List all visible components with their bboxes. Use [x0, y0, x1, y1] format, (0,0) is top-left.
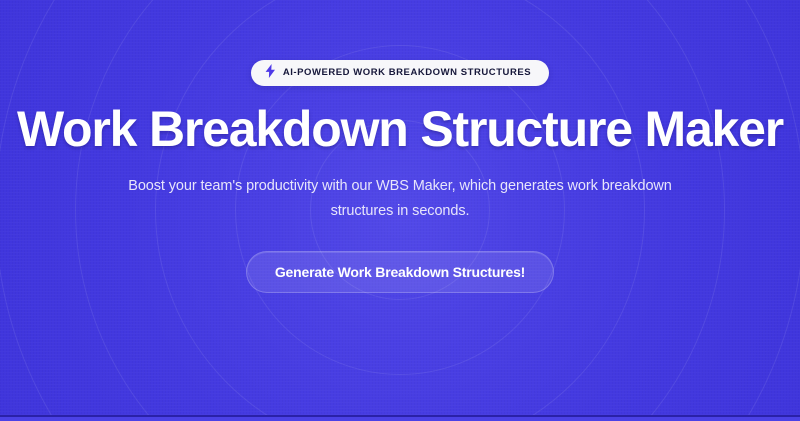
hero-section: AI-POWERED WORK BREAKDOWN STRUCTURES Wor… [0, 0, 800, 415]
page-subtitle: Boost your team's productivity with our … [100, 174, 700, 224]
footer-strip [0, 417, 800, 421]
generate-wbs-button[interactable]: Generate Work Breakdown Structures! [246, 251, 554, 293]
lightning-bolt-icon [265, 64, 276, 83]
page-title: Work Breakdown Structure Maker [17, 102, 783, 156]
ai-powered-badge: AI-POWERED WORK BREAKDOWN STRUCTURES [251, 60, 549, 86]
badge-label: AI-POWERED WORK BREAKDOWN STRUCTURES [283, 68, 531, 78]
